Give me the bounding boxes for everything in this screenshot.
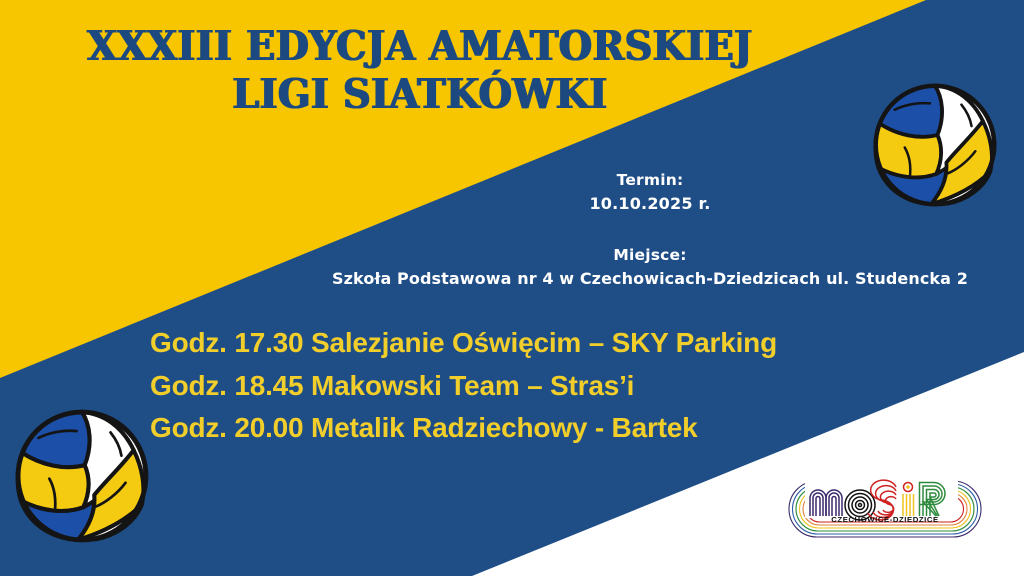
place-value: Szkoła Podstawowa nr 4 w Czechowicach-Dz… — [300, 267, 1000, 291]
headline-line-2: LIGI SIATKÓWKI — [29, 70, 810, 118]
details-spacer — [300, 217, 1000, 243]
volleyball-icon — [872, 82, 998, 208]
match-row: Godz. 20.00 Metalik Radziechowy - Bartek — [150, 407, 890, 450]
volleyball-icon — [14, 408, 150, 544]
match-row: Godz. 18.45 Makowski Team – Stras’i — [150, 365, 890, 408]
match-row: Godz. 17.30 Salezjanie Oświęcim – SKY Pa… — [150, 322, 890, 365]
logo-subtitle: CZECHOWICE-DZIEDZICE — [831, 515, 938, 524]
match-schedule: Godz. 17.30 Salezjanie Oświęcim – SKY Pa… — [150, 322, 890, 450]
poster-headline: XXXIII EDYCJA AMATORSKIEJ LIGI SIATKÓWKI — [29, 22, 810, 119]
poster-canvas: XXXIII EDYCJA AMATORSKIEJ LIGI SIATKÓWKI… — [0, 0, 1024, 576]
place-label: Miejsce: — [300, 243, 1000, 267]
headline-line-1: XXXIII EDYCJA AMATORSKIEJ — [29, 22, 810, 70]
mosir-logo: CZECHOWICE-DZIEDZICE — [782, 470, 988, 546]
